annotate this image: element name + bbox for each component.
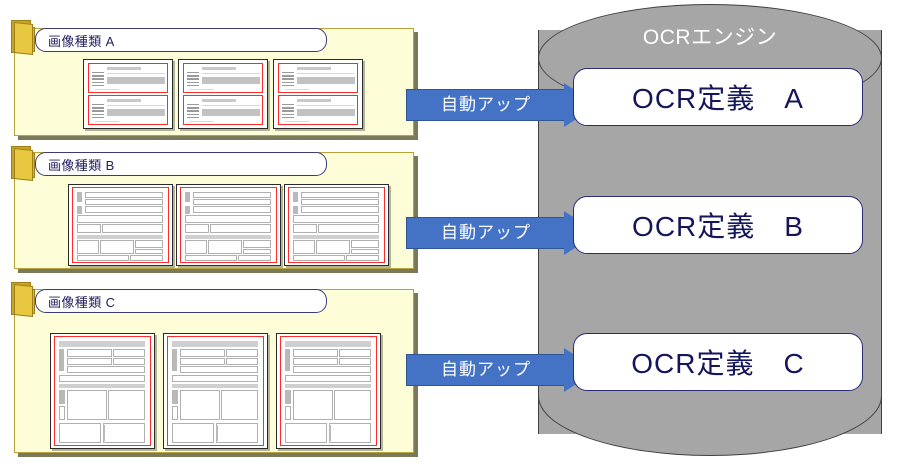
doc-rule: [297, 105, 355, 106]
ocr-definition-b[interactable]: OCR定義 B: [573, 196, 863, 254]
doc-rule: [107, 73, 165, 74]
image-type-label-b[interactable]: 画像種類 B: [35, 152, 327, 176]
doc-title-bar: [297, 99, 331, 102]
doc-field-stubs: [187, 72, 199, 86]
document-thumbnail[interactable]: [88, 63, 168, 93]
image-type-label-b-text: 画像種類 B: [48, 155, 115, 174]
doc-rule: [107, 105, 165, 106]
doc-content-band: [202, 77, 260, 84]
document-thumbnail[interactable]: [54, 336, 151, 446]
document-group[interactable]: [68, 184, 173, 266]
doc-field-stubs: [282, 104, 294, 118]
doc-rule: [202, 105, 260, 106]
ocr-engine-label: OCRエンジン: [538, 21, 882, 51]
doc-content-band: [107, 77, 165, 84]
form-content: [281, 337, 376, 445]
document-group[interactable]: [273, 59, 363, 129]
doc-rule: [95, 89, 119, 90]
auto-upload-label-a: 自動アップ: [406, 89, 566, 121]
doc-rule: [190, 121, 214, 122]
doc-rule: [285, 121, 309, 122]
document-group[interactable]: [50, 333, 155, 449]
ocr-definition-a-text: OCR定義 A: [632, 77, 804, 117]
form-content: [55, 337, 150, 445]
ocr-definition-b-text: OCR定義 B: [632, 205, 804, 245]
doc-content-band: [107, 109, 165, 116]
doc-title-bar: [202, 99, 236, 102]
doc-rule: [285, 89, 309, 90]
doc-field-stubs: [282, 72, 294, 86]
ocr-definition-c-text: OCR定義 C: [631, 342, 804, 382]
auto-upload-arrow-a[interactable]: 自動アップ: [406, 83, 600, 127]
doc-content-band: [202, 109, 260, 116]
doc-title-bar: [107, 99, 141, 102]
auto-upload-arrow-b[interactable]: 自動アップ: [406, 211, 600, 255]
form-content: [168, 337, 263, 445]
document-group[interactable]: [284, 184, 389, 266]
form-content: [289, 188, 384, 262]
doc-rule: [297, 73, 355, 74]
doc-title-bar: [297, 67, 331, 70]
doc-rule: [190, 89, 214, 90]
diagram-canvas: OCRエンジン 画像種類 A: [0, 0, 918, 467]
document-thumbnail[interactable]: [167, 336, 264, 446]
doc-rule: [202, 73, 260, 74]
document-group[interactable]: [176, 184, 281, 266]
document-thumbnail[interactable]: [183, 95, 263, 125]
document-thumbnail[interactable]: [183, 63, 263, 93]
document-group[interactable]: [276, 333, 381, 449]
image-type-label-a-text: 画像種類 A: [48, 31, 115, 50]
document-thumbnail[interactable]: [280, 336, 377, 446]
folder-front-panel: [14, 148, 33, 181]
auto-upload-label-b: 自動アップ: [406, 217, 566, 249]
form-content: [181, 188, 276, 262]
folder-front-panel: [14, 284, 33, 317]
doc-field-stubs: [92, 72, 104, 86]
document-group[interactable]: [178, 59, 268, 129]
form-content: [73, 188, 168, 262]
document-thumbnail[interactable]: [88, 95, 168, 125]
folder-front-panel: [14, 22, 33, 55]
document-thumbnail[interactable]: [278, 63, 358, 93]
doc-content-band: [297, 109, 355, 116]
document-thumbnail[interactable]: [180, 187, 277, 263]
document-thumbnail[interactable]: [278, 95, 358, 125]
document-thumbnail[interactable]: [72, 187, 169, 263]
doc-field-stubs: [92, 104, 104, 118]
image-type-label-c-text: 画像種類 C: [48, 292, 115, 311]
image-type-label-c[interactable]: 画像種類 C: [35, 289, 327, 313]
auto-upload-label-c: 自動アップ: [406, 354, 566, 386]
document-group[interactable]: [163, 333, 268, 449]
document-group[interactable]: [83, 59, 173, 129]
ocr-definition-a[interactable]: OCR定義 A: [573, 68, 863, 126]
doc-title-bar: [202, 67, 236, 70]
doc-content-band: [297, 77, 355, 84]
doc-title-bar: [107, 67, 141, 70]
document-thumbnail[interactable]: [288, 187, 385, 263]
ocr-definition-c[interactable]: OCR定義 C: [573, 333, 863, 391]
image-type-label-a[interactable]: 画像種類 A: [35, 28, 327, 52]
doc-rule: [95, 121, 119, 122]
auto-upload-arrow-c[interactable]: 自動アップ: [406, 348, 600, 392]
doc-field-stubs: [187, 104, 199, 118]
